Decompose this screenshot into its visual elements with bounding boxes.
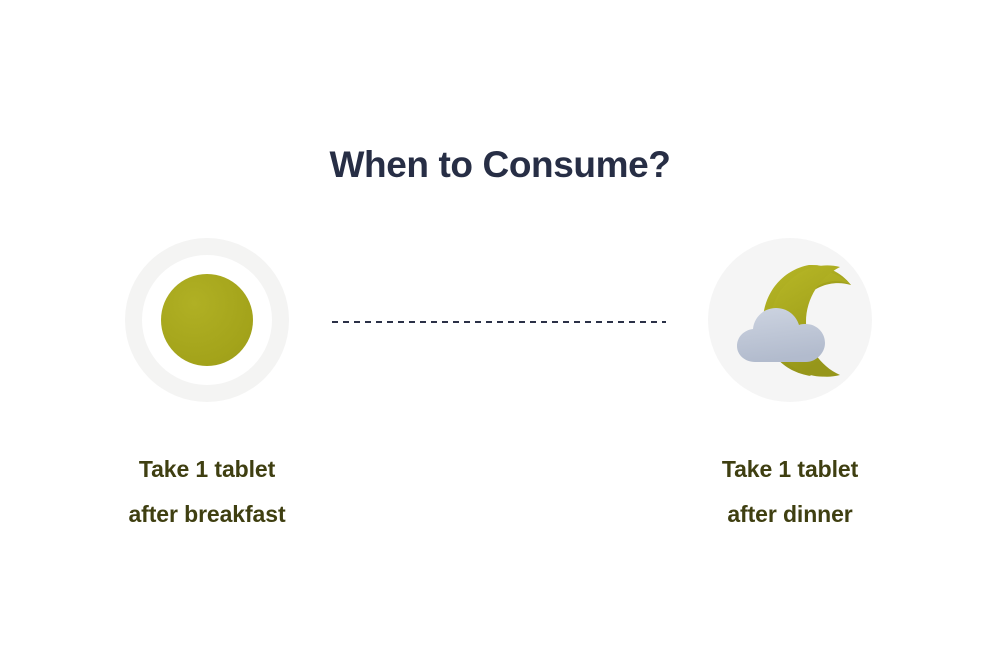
schedule-item-morning: Take 1 tablet after breakfast: [57, 238, 357, 537]
schedule-item-evening-caption: Take 1 tablet after dinner: [640, 447, 940, 537]
schedule-item-evening: Take 1 tablet after dinner: [640, 238, 940, 537]
schedule-item-morning-caption: Take 1 tablet after breakfast: [57, 447, 357, 537]
moon-cloud-icon: [708, 238, 872, 402]
dashed-connector: [332, 321, 666, 323]
caption-line-2: after dinner: [640, 492, 940, 537]
caption-line-1: Take 1 tablet: [57, 447, 357, 492]
when-to-consume-infographic: When to Consume? Take 1 tablet after bre…: [0, 0, 1000, 667]
cloud-shape: [737, 308, 825, 362]
page-title: When to Consume?: [0, 143, 1000, 187]
sun-icon: [125, 238, 289, 402]
caption-line-1: Take 1 tablet: [640, 447, 940, 492]
sun-icon-disc: [161, 274, 253, 366]
caption-line-2: after breakfast: [57, 492, 357, 537]
